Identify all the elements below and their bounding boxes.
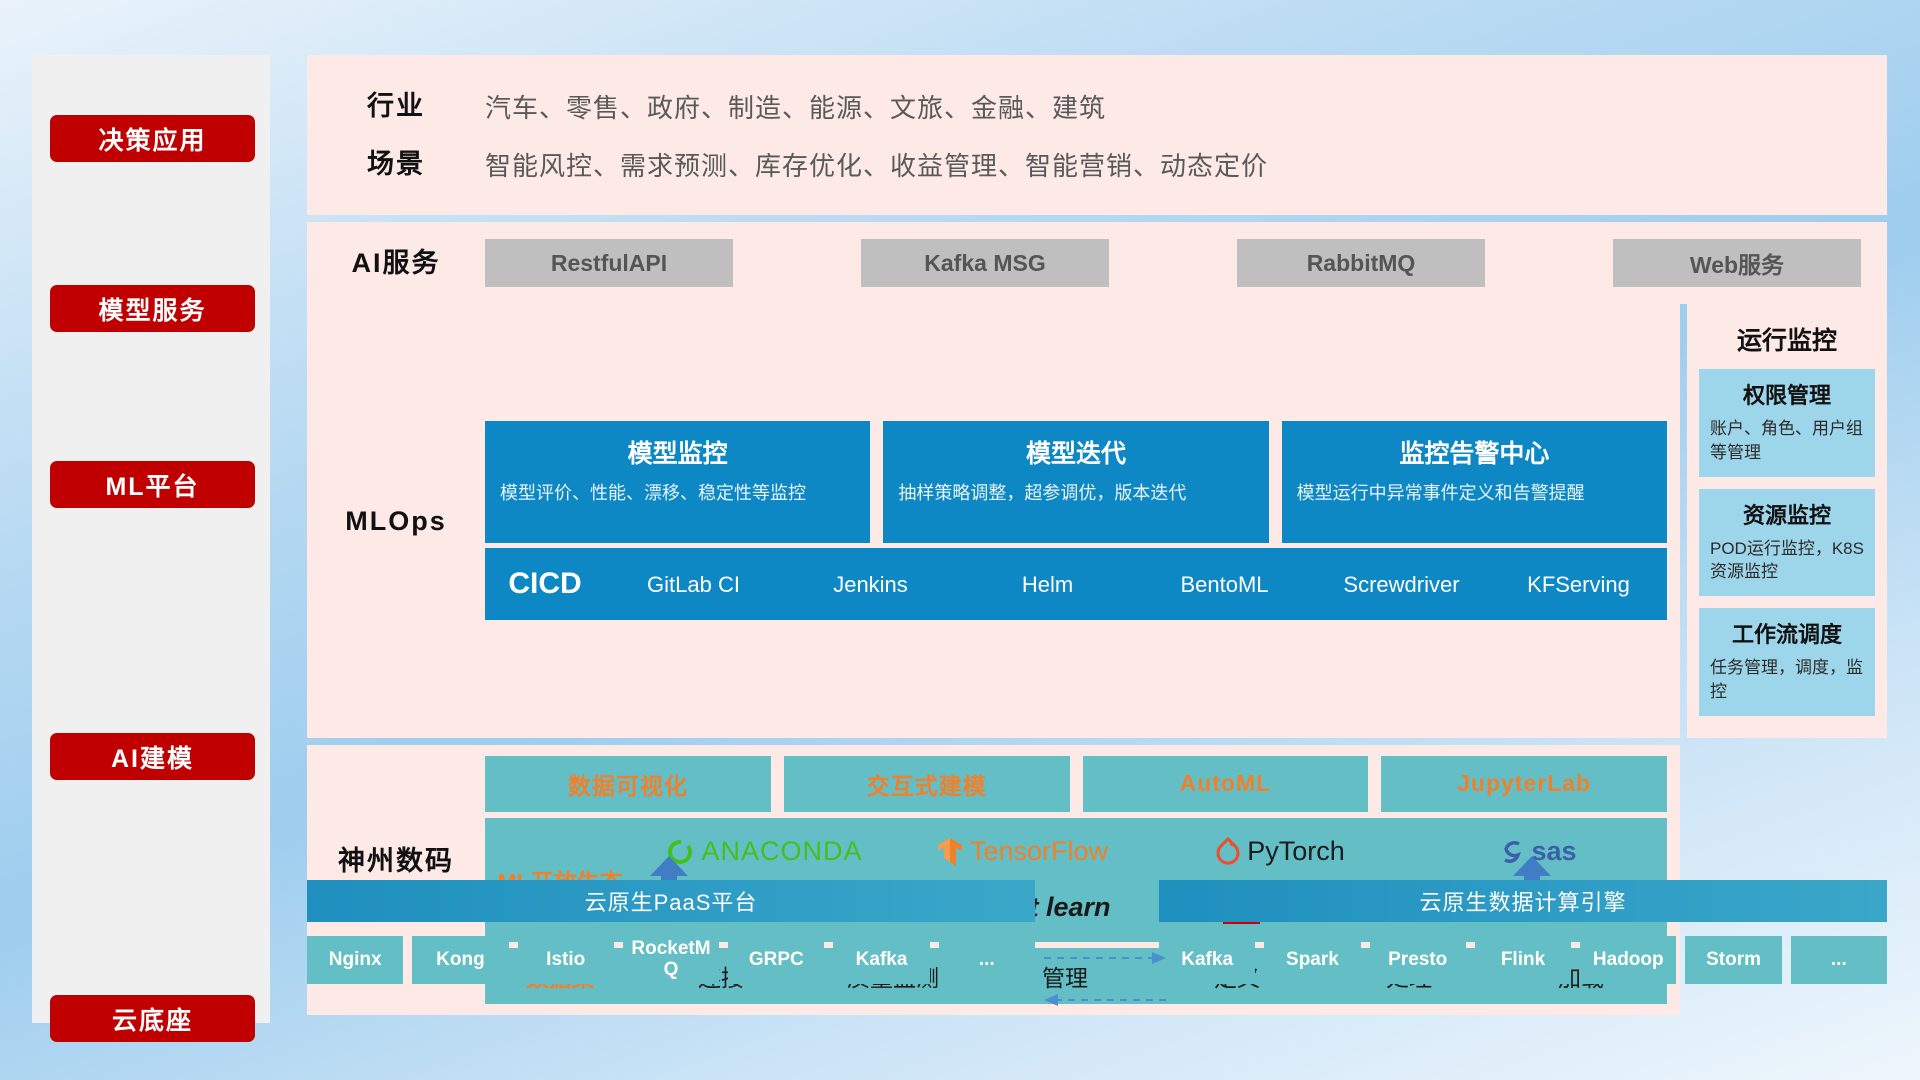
- card-desc: 抽样策略调整，超参调优，版本迭代: [898, 480, 1253, 506]
- tab-jupyterlab[interactable]: JupyterLab: [1381, 756, 1667, 812]
- card-desc: POD运行监控，K8S资源监控: [1710, 537, 1864, 585]
- engine-chip-presto[interactable]: Presto: [1370, 936, 1466, 984]
- industry-row: 行业 汽车、零售、政府、制造、能源、文旅、金融、建筑: [307, 77, 1887, 135]
- monitor-column-title: 运行监控: [1699, 312, 1875, 369]
- service-chip-kafka-msg[interactable]: Kafka MSG: [861, 239, 1109, 287]
- cicd-item-kfserving[interactable]: KFServing: [1490, 572, 1667, 597]
- rail-item-decision-app[interactable]: 决策应用: [50, 115, 255, 162]
- logo-text: TensorFlow: [970, 836, 1108, 867]
- main-column: 行业 汽车、零售、政府、制造、能源、文旅、金融、建筑 场景 智能风控、需求预测、…: [307, 55, 1887, 1015]
- paas-chip-nginx[interactable]: Nginx: [307, 936, 403, 984]
- pytorch-icon: [1215, 837, 1241, 867]
- industry-scenario-band: 行业 汽车、零售、政府、制造、能源、文旅、金融、建筑 场景 智能风控、需求预测、…: [307, 55, 1887, 215]
- left-rail: 决策应用 模型服务 ML平台 AI建模 云底座: [32, 55, 270, 1023]
- mlops-label: MLOps: [307, 503, 485, 539]
- paas-chip-istio[interactable]: Istio: [518, 936, 614, 984]
- diagram-root: 决策应用 模型服务 ML平台 AI建模 云底座 行业 汽车、零售、政府、制造、能…: [0, 0, 1920, 1080]
- cloud-col-data-engine: 云原生数据计算引擎 Kafka Spark Presto Flink Hadoo…: [1159, 880, 1887, 984]
- data-engine-title[interactable]: 云原生数据计算引擎: [1159, 880, 1887, 922]
- rail-item-cloud-base[interactable]: 云底座: [50, 995, 255, 1042]
- service-chip-web[interactable]: Web服务: [1613, 239, 1861, 287]
- tensorflow-logo: TensorFlow: [893, 824, 1151, 880]
- paas-chip-kafka[interactable]: Kafka: [833, 936, 929, 984]
- ai-service-label: AI服务: [307, 245, 485, 281]
- engine-chip-kafka[interactable]: Kafka: [1159, 936, 1255, 984]
- tab-interactive-modeling[interactable]: 交互式建模: [784, 756, 1070, 812]
- paas-chip-rocketmq[interactable]: RocketMQ: [623, 936, 719, 984]
- monitor-card-resource[interactable]: 资源监控 POD运行监控，K8S资源监控: [1699, 489, 1875, 597]
- cicd-item-jenkins[interactable]: Jenkins: [782, 572, 959, 597]
- mlops-card-model-monitor[interactable]: 模型监控 模型评价、性能、漂移、稳定性等监控: [485, 421, 870, 543]
- service-chip-rabbitmq[interactable]: RabbitMQ: [1237, 239, 1485, 287]
- mlops-left: MLOps 模型监控 模型评价、性能、漂移、稳定性等监控 模型迭代 抽样策略调整…: [307, 304, 1680, 738]
- rail-item-label: 模型服务: [98, 291, 206, 327]
- rail-item-label: 决策应用: [98, 121, 206, 157]
- cicd-bar: CICD GitLab CI Jenkins Helm BentoML Scre…: [485, 548, 1667, 620]
- paas-chip-kong[interactable]: Kong: [412, 936, 508, 984]
- tensorflow-icon: [936, 836, 964, 868]
- industry-values: 汽车、零售、政府、制造、能源、文旅、金融、建筑: [485, 88, 1106, 125]
- ai-service-band: AI服务 RestfulAPI Kafka MSG RabbitMQ Web服务: [307, 222, 1887, 304]
- rail-item-label: 云底座: [112, 1001, 193, 1037]
- cicd-items: GitLab CI Jenkins Helm BentoML Screwdriv…: [605, 572, 1667, 597]
- ml-lab-tabs: 数据可视化 交互式建模 AutoML JupyterLab: [485, 756, 1667, 812]
- card-desc: 任务管理，调度，监控: [1710, 656, 1864, 704]
- engine-chip-spark[interactable]: Spark: [1264, 936, 1360, 984]
- card-title: 模型监控: [500, 434, 855, 470]
- paas-chip-more[interactable]: ...: [939, 936, 1035, 984]
- cicd-item-bentoml[interactable]: BentoML: [1136, 572, 1313, 597]
- cicd-item-screwdriver[interactable]: Screwdriver: [1313, 572, 1490, 597]
- industry-label: 行业: [307, 88, 485, 124]
- engine-chip-hadoop[interactable]: Hadoop: [1580, 936, 1676, 984]
- mlops-card-alert-center[interactable]: 监控告警中心 模型运行中异常事件定义和告警提醒: [1282, 421, 1667, 543]
- cloud-link-arrows: [1040, 948, 1170, 1018]
- engine-chip-storm[interactable]: Storm: [1685, 936, 1781, 984]
- rail-item-label: ML平台: [105, 467, 199, 503]
- monitor-card-permission[interactable]: 权限管理 账户、角色、用户组等管理: [1699, 369, 1875, 477]
- card-desc: 模型评价、性能、漂移、稳定性等监控: [500, 480, 855, 506]
- rail-item-ai-modeling[interactable]: AI建模: [50, 733, 255, 780]
- scenario-row: 场景 智能风控、需求预测、库存优化、收益管理、智能营销、动态定价: [307, 135, 1887, 193]
- engine-chip-more[interactable]: ...: [1791, 936, 1887, 984]
- mlops-cards: 模型监控 模型评价、性能、漂移、稳定性等监控 模型迭代 抽样策略调整，超参调优，…: [485, 421, 1667, 543]
- logo-text: PyTorch: [1247, 836, 1345, 867]
- service-chip-restfulapi[interactable]: RestfulAPI: [485, 239, 733, 287]
- card-desc: 模型运行中异常事件定义和告警提醒: [1297, 480, 1652, 506]
- scenario-values: 智能风控、需求预测、库存优化、收益管理、智能营销、动态定价: [485, 146, 1268, 183]
- tab-data-visualization[interactable]: 数据可视化: [485, 756, 771, 812]
- ml-lab-label-line1: 神州数码: [307, 843, 485, 879]
- engine-chip-flink[interactable]: Flink: [1475, 936, 1571, 984]
- data-engine-chips: Kafka Spark Presto Flink Hadoop Storm ..…: [1159, 936, 1887, 984]
- cicd-item-helm[interactable]: Helm: [959, 572, 1136, 597]
- card-desc: 账户、角色、用户组等管理: [1710, 417, 1864, 465]
- mlops-card-model-iteration[interactable]: 模型迭代 抽样策略调整，超参调优，版本迭代: [883, 421, 1268, 543]
- scenario-label: 场景: [307, 146, 485, 182]
- logo-text: ANACONDA: [701, 836, 862, 867]
- paas-title[interactable]: 云原生PaaS平台: [307, 880, 1035, 922]
- card-title: 监控告警中心: [1297, 434, 1652, 470]
- rail-item-model-service[interactable]: 模型服务: [50, 285, 255, 332]
- mlops-stack: 模型监控 模型评价、性能、漂移、稳定性等监控 模型迭代 抽样策略调整，超参调优，…: [485, 421, 1680, 620]
- paas-chip-grpc[interactable]: GRPC: [728, 936, 824, 984]
- card-title: 工作流调度: [1710, 617, 1864, 649]
- paas-chips: Nginx Kong Istio RocketMQ GRPC Kafka ...: [307, 936, 1035, 984]
- mlops-band: MLOps 模型监控 模型评价、性能、漂移、稳定性等监控 模型迭代 抽样策略调整…: [307, 304, 1887, 738]
- cicd-item-gitlab-ci[interactable]: GitLab CI: [605, 572, 782, 597]
- cicd-label: CICD: [485, 567, 605, 601]
- card-title: 资源监控: [1710, 498, 1864, 530]
- monitor-column: 运行监控 权限管理 账户、角色、用户组等管理 资源监控 POD运行监控，K8S资…: [1687, 304, 1887, 738]
- rail-item-ml-platform[interactable]: ML平台: [50, 461, 255, 508]
- card-title: 模型迭代: [898, 434, 1253, 470]
- card-title: 权限管理: [1710, 378, 1864, 410]
- ai-service-chips: RestfulAPI Kafka MSG RabbitMQ Web服务: [485, 239, 1887, 287]
- pytorch-logo: PyTorch: [1151, 824, 1409, 880]
- cloud-col-paas: 云原生PaaS平台 Nginx Kong Istio RocketMQ GRPC…: [307, 880, 1035, 984]
- tab-automl[interactable]: AutoML: [1083, 756, 1369, 812]
- monitor-card-workflow[interactable]: 工作流调度 任务管理，调度，监控: [1699, 608, 1875, 716]
- rail-item-label: AI建模: [111, 739, 194, 775]
